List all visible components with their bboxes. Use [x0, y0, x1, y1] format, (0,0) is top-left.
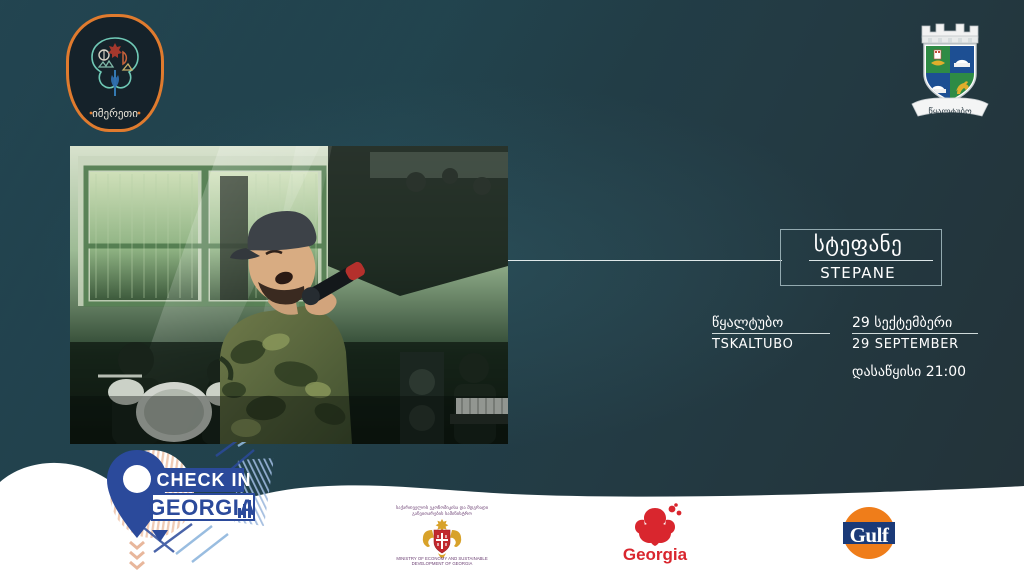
concert-photo [70, 146, 508, 444]
chevron-marks [130, 542, 144, 568]
mural-crown [922, 24, 978, 43]
georgia-borjgali-icon [635, 503, 681, 546]
start-time: დასაწყისი 21:00 [852, 362, 966, 382]
venue-block: წყალტუბო TSKALTUBO [712, 314, 848, 354]
imereti-caption: იმერეთი [92, 107, 138, 120]
sponsor-ministry-of-economy: საქართველოს ეკონომიკისა და მდგრადი განვი… [352, 500, 532, 566]
artist-name-box: სტეფანე STEPANE [780, 229, 942, 286]
date-divider [852, 333, 978, 334]
check-in-text: CHECK IN [156, 470, 251, 490]
coat-banner-text: წყალტუბო [928, 106, 972, 117]
connector-line [508, 260, 782, 261]
sponsor-georgia-brand: Georgia [596, 500, 714, 564]
coat-banner-label: წყალტუბო [904, 126, 905, 127]
ministry-emblem [423, 519, 461, 558]
ministry-title-ka-line1: საქართველოს ეკონომიკისა და მდგრადი [396, 504, 489, 511]
imereti-logo: იმერეთი იმერეთი [66, 14, 164, 132]
venue-name-en: TSKALTUBO [712, 336, 848, 354]
coat-banner: წყალტუბო [912, 98, 988, 117]
check-in-georgia-logo: CHECK IN GEORGIA CHECK IN GEORGIA [88, 442, 310, 570]
venue-divider [712, 333, 830, 334]
date-block: 29 სექტემბერი 29 SEPTEMBER [852, 314, 988, 354]
imereti-logo-art: იმერეთი [66, 14, 164, 132]
georgia-wordmark: Georgia [623, 545, 688, 564]
date-en: 29 SEPTEMBER [852, 336, 988, 354]
artist-name-en: STEPANE [781, 262, 935, 284]
date-ka: 29 სექტემბერი [852, 314, 988, 332]
artist-name-ka: სტეფანე [781, 231, 935, 257]
ministry-title-ka-line2: განვითარების სამინისტრო [412, 510, 472, 517]
shield [924, 44, 976, 103]
concert-photo-art [70, 146, 508, 444]
tskaltubo-coat-of-arms: წყალტუბო წყალტუბო [904, 8, 996, 126]
ministry-title-en-line2: DEVELOPMENT OF GEORGIA [412, 561, 473, 566]
gulf-wordmark: Gulf [850, 523, 890, 547]
event-poster: იმერეთი იმერეთი [0, 0, 1024, 576]
artist-name-divider [809, 260, 933, 261]
sponsor-gulf: Gulf [818, 506, 920, 560]
venue-name-ka: წყალტუბო [712, 314, 848, 332]
